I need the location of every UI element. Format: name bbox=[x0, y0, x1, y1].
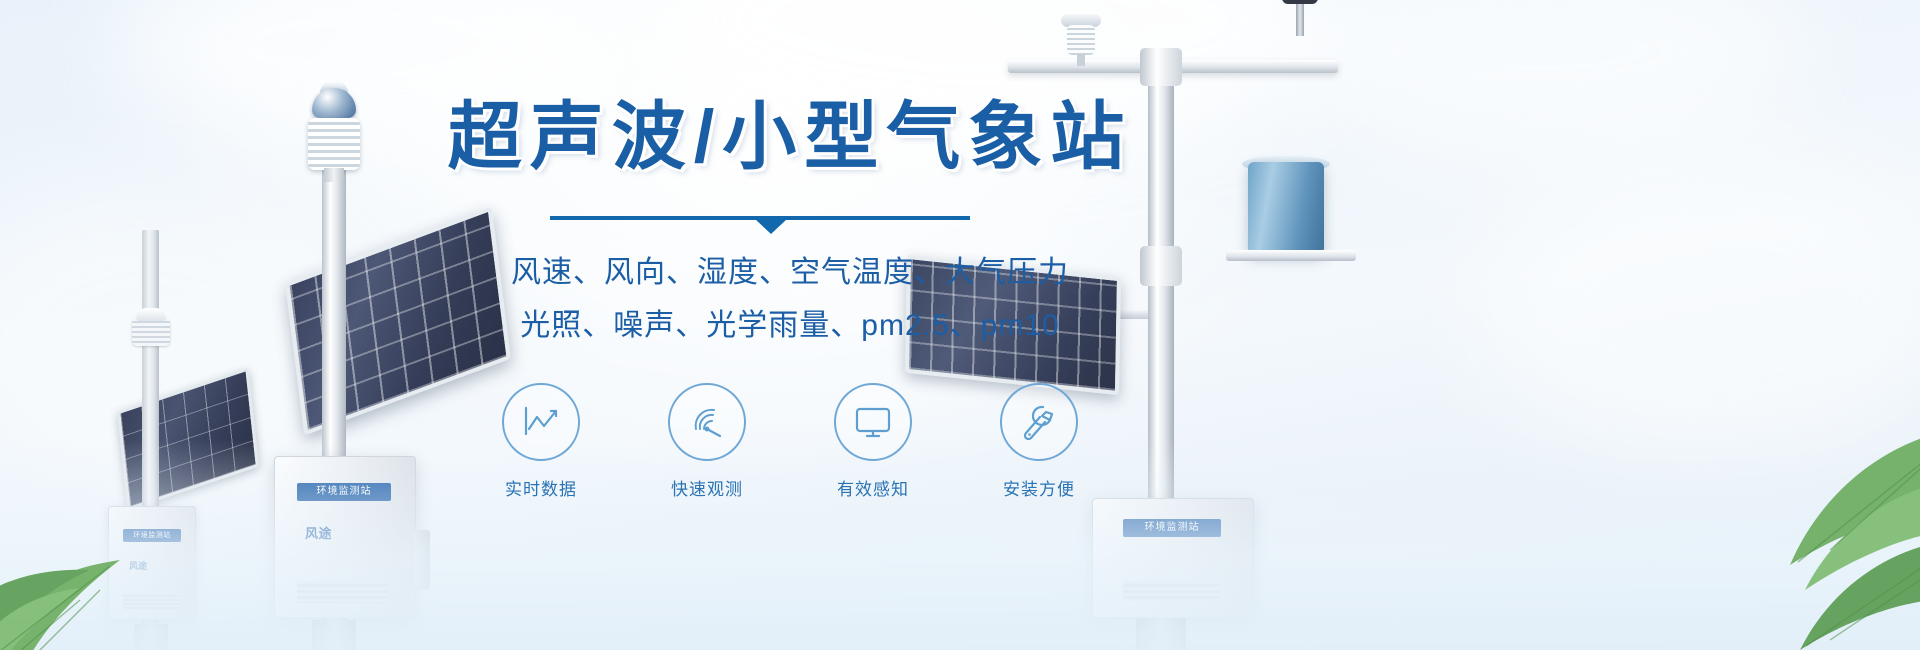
feature-icon-circle bbox=[668, 383, 746, 461]
wind-vane-sensor bbox=[1280, 0, 1320, 64]
louvered-shield-icon bbox=[308, 118, 360, 170]
pole-collar bbox=[1140, 48, 1182, 86]
feature-label: 安装方便 bbox=[984, 475, 1094, 500]
ultrasonic-sensor bbox=[1058, 10, 1104, 66]
optical-rain-dome-icon bbox=[312, 88, 356, 118]
sensor-head-assembly bbox=[298, 88, 370, 180]
vane-rod bbox=[1296, 4, 1304, 36]
ultrasonic-stem bbox=[1077, 54, 1085, 66]
feature-icon-circle bbox=[834, 383, 912, 461]
pole-collar bbox=[1140, 246, 1182, 286]
feature-label: 快速观测 bbox=[652, 475, 762, 500]
wrench-icon bbox=[1019, 403, 1059, 441]
ultrasonic-body bbox=[1067, 25, 1095, 55]
feature-item-realtime-data[interactable]: 实时数据 bbox=[486, 383, 596, 500]
feature-item-effective-sensing[interactable]: 有效感知 bbox=[818, 383, 928, 500]
subtitle-line-1: 风速、风向、湿度、空气温度、大气压力 bbox=[440, 250, 1140, 297]
subtitle-line-2: 光照、噪声、光学雨量、pm2.5、pm10 bbox=[440, 303, 1140, 350]
equipment-shelf bbox=[1226, 250, 1356, 261]
radiation-shield-sensor bbox=[128, 308, 174, 350]
banner-content: 超声波/小型气象站 风速、风向、湿度、空气温度、大气压力 光照、噪声、光学雨量、… bbox=[440, 100, 1140, 500]
monitor-screen-icon bbox=[852, 404, 894, 440]
divider-triangle-icon bbox=[755, 219, 787, 234]
feature-label: 实时数据 bbox=[486, 475, 596, 500]
feature-list: 实时数据 快速观测 bbox=[440, 383, 1140, 500]
louvered-shield-icon bbox=[132, 318, 170, 346]
cloud-decoration bbox=[1480, 150, 1920, 470]
page-title: 超声波/小型气象站 bbox=[440, 100, 1140, 174]
sensor-cap bbox=[136, 308, 166, 321]
product-banner: 环境监测站 风途 环境监测站 风途 bbox=[0, 0, 1920, 650]
feature-label: 有效感知 bbox=[818, 475, 928, 500]
title-divider bbox=[550, 216, 970, 230]
rain-gauge-cylinder bbox=[1248, 162, 1324, 254]
line-chart-icon bbox=[521, 405, 561, 439]
feature-icon-circle bbox=[1000, 383, 1078, 461]
feature-item-easy-installation[interactable]: 安装方便 bbox=[984, 383, 1094, 500]
feature-item-fast-observation[interactable]: 快速观测 bbox=[652, 383, 762, 500]
radar-signal-icon bbox=[687, 403, 727, 441]
sensor-neck bbox=[324, 168, 344, 182]
feature-icon-circle bbox=[502, 383, 580, 461]
